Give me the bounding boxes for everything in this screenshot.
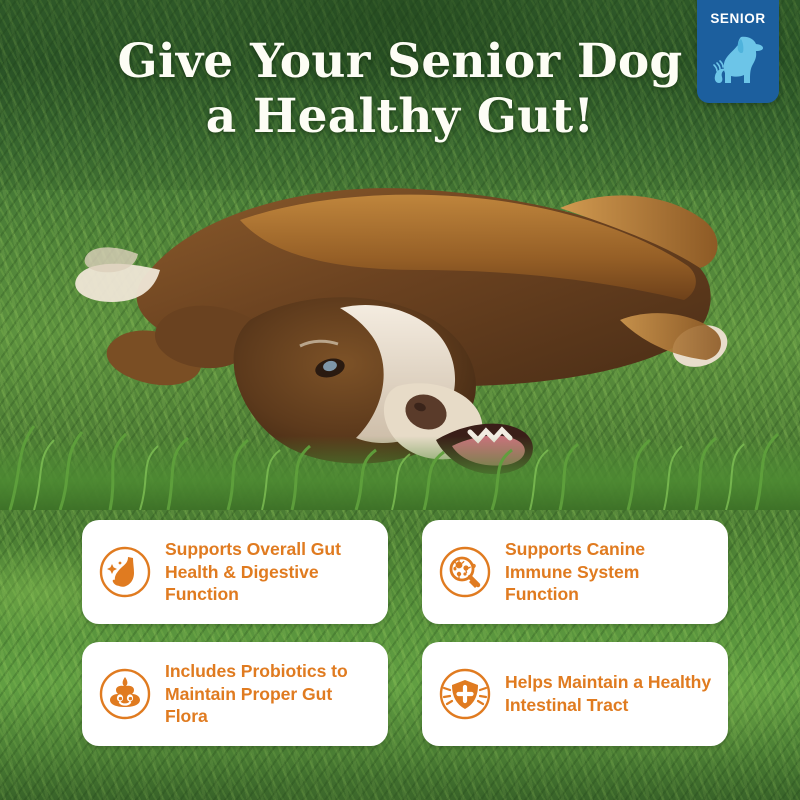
feature-card-text: Includes Probiotics to Maintain Proper G… <box>165 660 376 728</box>
senior-badge-label: SENIOR <box>710 11 765 26</box>
senior-badge: SENIOR <box>697 0 779 103</box>
shield-plus-icon <box>436 665 494 723</box>
page-title: Give Your Senior Dog a Healthy Gut! <box>0 34 800 144</box>
feature-cards: Supports Overall Gut Health & Digestive … <box>82 520 728 746</box>
feature-card-gut-health[interactable]: Supports Overall Gut Health & Digestive … <box>82 520 388 624</box>
feature-card-probiotics[interactable]: Includes Probiotics to Maintain Proper G… <box>82 642 388 746</box>
feature-card-intestinal-tract[interactable]: Helps Maintain a Healthy Intestinal Trac… <box>422 642 728 746</box>
sitting-dog-icon <box>707 29 769 91</box>
dog-illustration <box>0 150 800 510</box>
feature-card-text: Supports Overall Gut Health & Digestive … <box>165 538 376 606</box>
stomach-icon <box>96 543 154 601</box>
title-line-2: a Healthy Gut! <box>70 89 730 144</box>
feature-card-text: Helps Maintain a Healthy Intestinal Trac… <box>505 671 716 716</box>
poop-smile-icon <box>96 665 154 723</box>
feature-card-immune-system[interactable]: Supports Canine Immune System Function <box>422 520 728 624</box>
feature-card-text: Supports Canine Immune System Function <box>505 538 716 606</box>
magnifier-germs-icon <box>436 543 494 601</box>
title-line-1: Give Your Senior Dog <box>118 34 683 89</box>
dog-photo <box>0 150 800 510</box>
